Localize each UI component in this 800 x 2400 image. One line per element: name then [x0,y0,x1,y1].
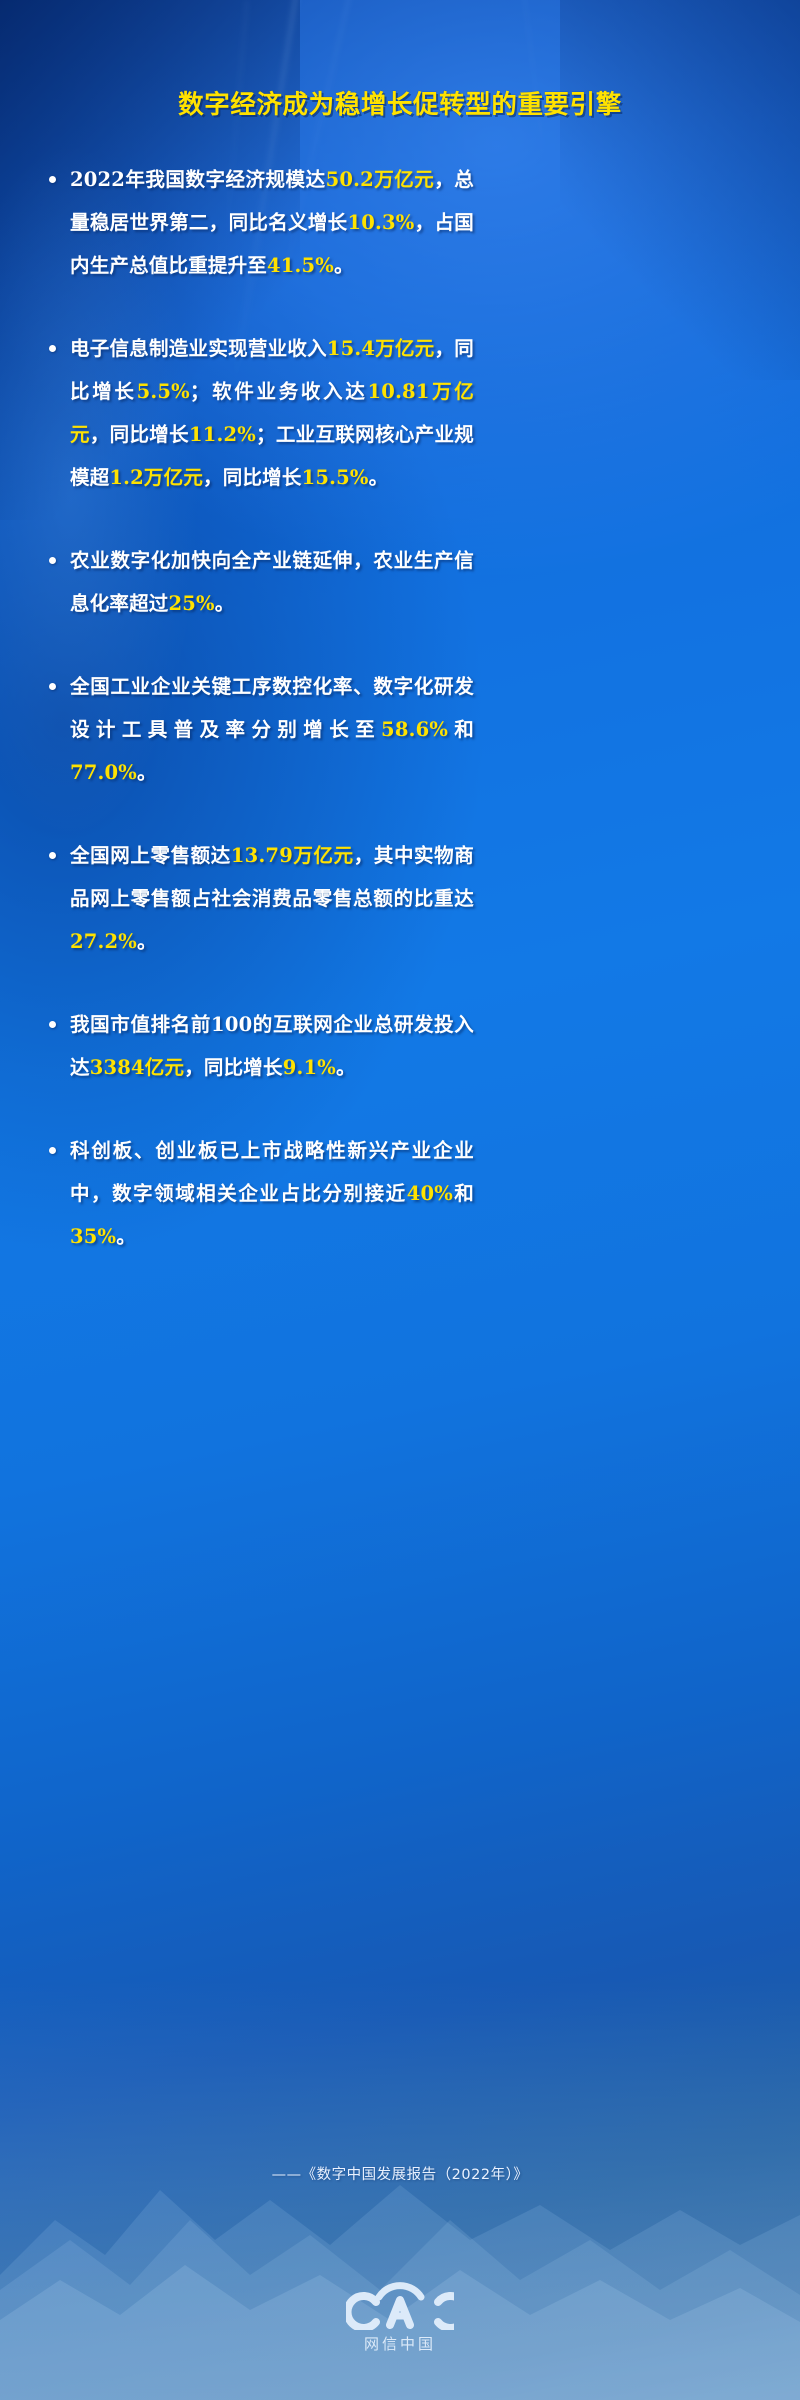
highlight-value: 40% [407,1182,453,1205]
bullet-text: 农业数字化加快向全产业链延伸，农业生产信息化率超过 [70,549,474,615]
highlight-value: 27.2% [70,930,137,953]
bullet-item-electronic-information-manufacturing: 电子信息制造业实现营业收入15.4万亿元，同比增长5.5%；软件业务收入达10.… [44,327,474,499]
infographic-content: 数字经济成为稳增长促转型的重要引擎 2022年我国数字经济规模达50.2万亿元，… [0,0,800,2400]
bullet-item-digital-economy-scale: 2022年我国数字经济规模达50.2万亿元，总量稳居世界第二，同比名义增长10.… [44,158,474,287]
highlight-value: 9.1% [283,1056,336,1079]
bullet-text: ，同比增长 [203,466,302,489]
bullet-text: 。 [215,592,235,615]
cac-mark-icon [346,2278,454,2330]
page-title: 数字经济成为稳增长促转型的重要引擎 [0,84,800,121]
bullet-text: 。 [336,1056,356,1079]
bullet-text: 电子信息制造业实现营业收入 [70,337,327,360]
bullet-item-top100-internet-rd: 我国市值排名前100的互联网企业总研发投入达3384亿元，同比增长9.1%。 [44,1003,474,1089]
highlight-value: 3384亿元 [90,1056,184,1079]
highlight-value: 11.2% [189,423,256,446]
cac-logo-name: 网信中国 [364,2333,436,2354]
highlight-value: 15.5% [302,466,369,489]
bullet-text: 全国网上零售额达 [70,844,231,867]
bullet-text: 和 [453,1182,474,1205]
bullet-text: 。 [334,254,354,277]
highlight-value: 13.79万亿元 [231,844,354,867]
bullet-text: 。 [137,761,157,784]
cac-logo: 网信中国 [0,2278,800,2354]
source-attribution: ——《数字中国发展报告（2022年）》 [0,2163,800,2184]
bullet-text: ；软件业务收入达 [190,380,368,403]
bullet-text: ，同比增长 [184,1056,283,1079]
highlight-value: 35% [70,1225,116,1248]
bullet-text: 。 [116,1225,136,1248]
bullet-text: 。 [137,930,157,953]
highlight-value: 77.0% [70,761,137,784]
highlight-value: 41.5% [267,254,334,277]
highlight-value: 50.2万亿元 [326,168,435,191]
bullet-list: 2022年我国数字经济规模达50.2万亿元，总量稳居世界第二，同比名义增长10.… [44,158,474,1298]
highlight-value: 10.3% [348,211,415,234]
bullet-text: 。 [369,466,389,489]
bullet-text: 2022年我国数字经济规模达 [70,168,326,191]
highlight-value: 58.6% [381,718,448,741]
bullet-item-industrial-enterprises-digital: 全国工业企业关键工序数控化率、数字化研发设计工具普及率分别增长至58.6%和77… [44,665,474,794]
bullet-text: 和 [448,718,474,741]
highlight-value: 1.2万亿元 [109,466,203,489]
highlight-value: 5.5% [137,380,190,403]
highlight-value: 25% [169,592,215,615]
highlight-value: 15.4万亿元 [327,337,435,360]
bullet-item-agriculture-digitalization: 农业数字化加快向全产业链延伸，农业生产信息化率超过25%。 [44,539,474,625]
bullet-item-online-retail: 全国网上零售额达13.79万亿元，其中实物商品网上零售额占社会消费品零售总额的比… [44,834,474,963]
bullet-item-star-chinext-listed: 科创板、创业板已上市战略性新兴产业企业中，数字领域相关企业占比分别接近40%和3… [44,1129,474,1258]
bullet-text: ，同比增长 [90,423,189,446]
